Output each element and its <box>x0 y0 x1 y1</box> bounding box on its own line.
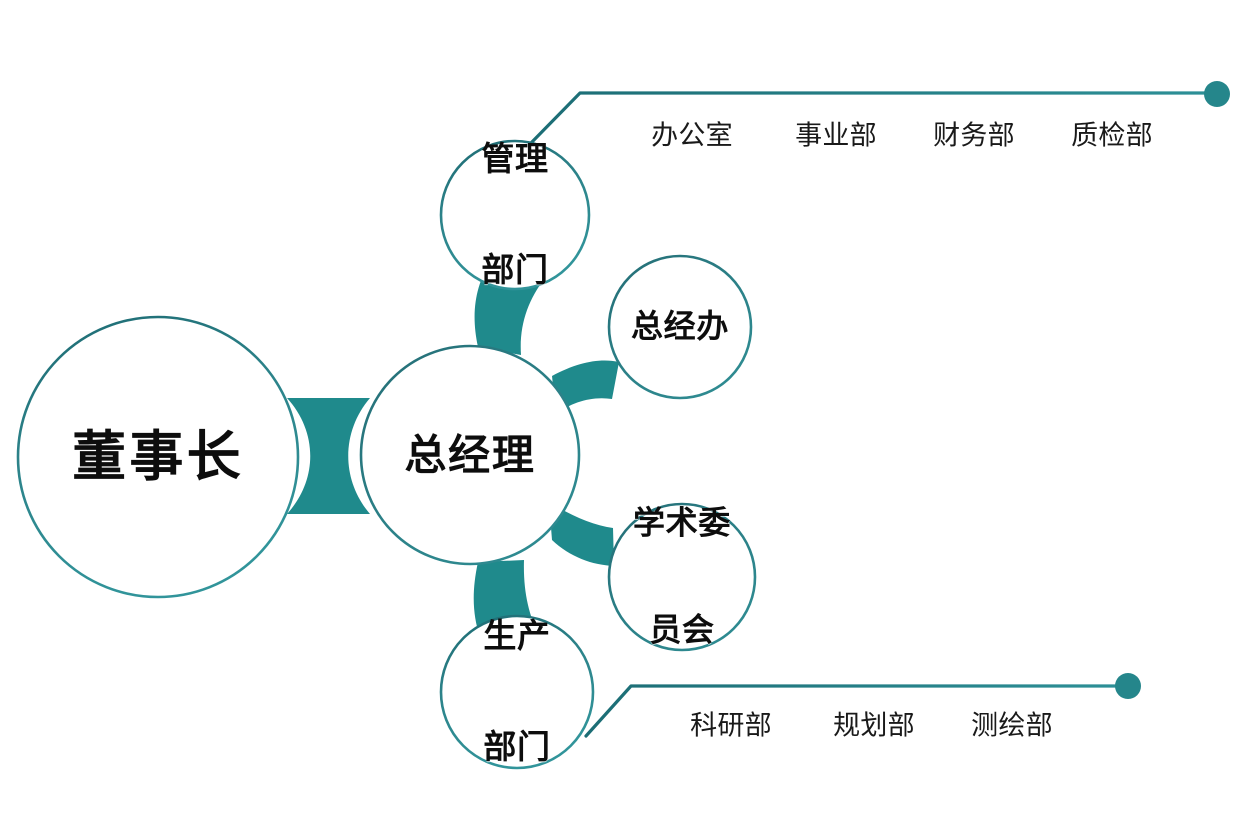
node-circle-academic-committee[interactable] <box>609 504 755 650</box>
leaf-label-finance-department[interactable]: 财务部 <box>933 123 1015 150</box>
connector-chairman-to-gm <box>287 398 370 514</box>
node-circle-chairman[interactable] <box>18 317 298 597</box>
leaf-label-planning-department[interactable]: 规划部 <box>833 713 915 740</box>
diagram-canvas: 董事长 总经理 管理 部门 总经办 学术委 员会 生产 部门 办公室 事业部 财… <box>0 0 1250 832</box>
node-circle-management-dept[interactable] <box>441 141 589 289</box>
leaf-label-quality-inspection-department[interactable]: 质检部 <box>1071 123 1153 150</box>
bottom-branch-endpoint-dot <box>1115 673 1141 699</box>
node-circle-production-dept[interactable] <box>441 616 593 768</box>
top-branch-endpoint-dot <box>1204 81 1230 107</box>
leaf-label-surveying-department[interactable]: 测绘部 <box>971 713 1053 740</box>
org-chart-graphic <box>0 0 1250 832</box>
leaf-label-business-division[interactable]: 事业部 <box>795 123 877 150</box>
leaf-label-office[interactable]: 办公室 <box>651 123 733 150</box>
node-circle-gm-office[interactable] <box>609 256 751 398</box>
leaf-label-research-department[interactable]: 科研部 <box>690 713 772 740</box>
node-circle-general-manager[interactable] <box>361 346 579 564</box>
